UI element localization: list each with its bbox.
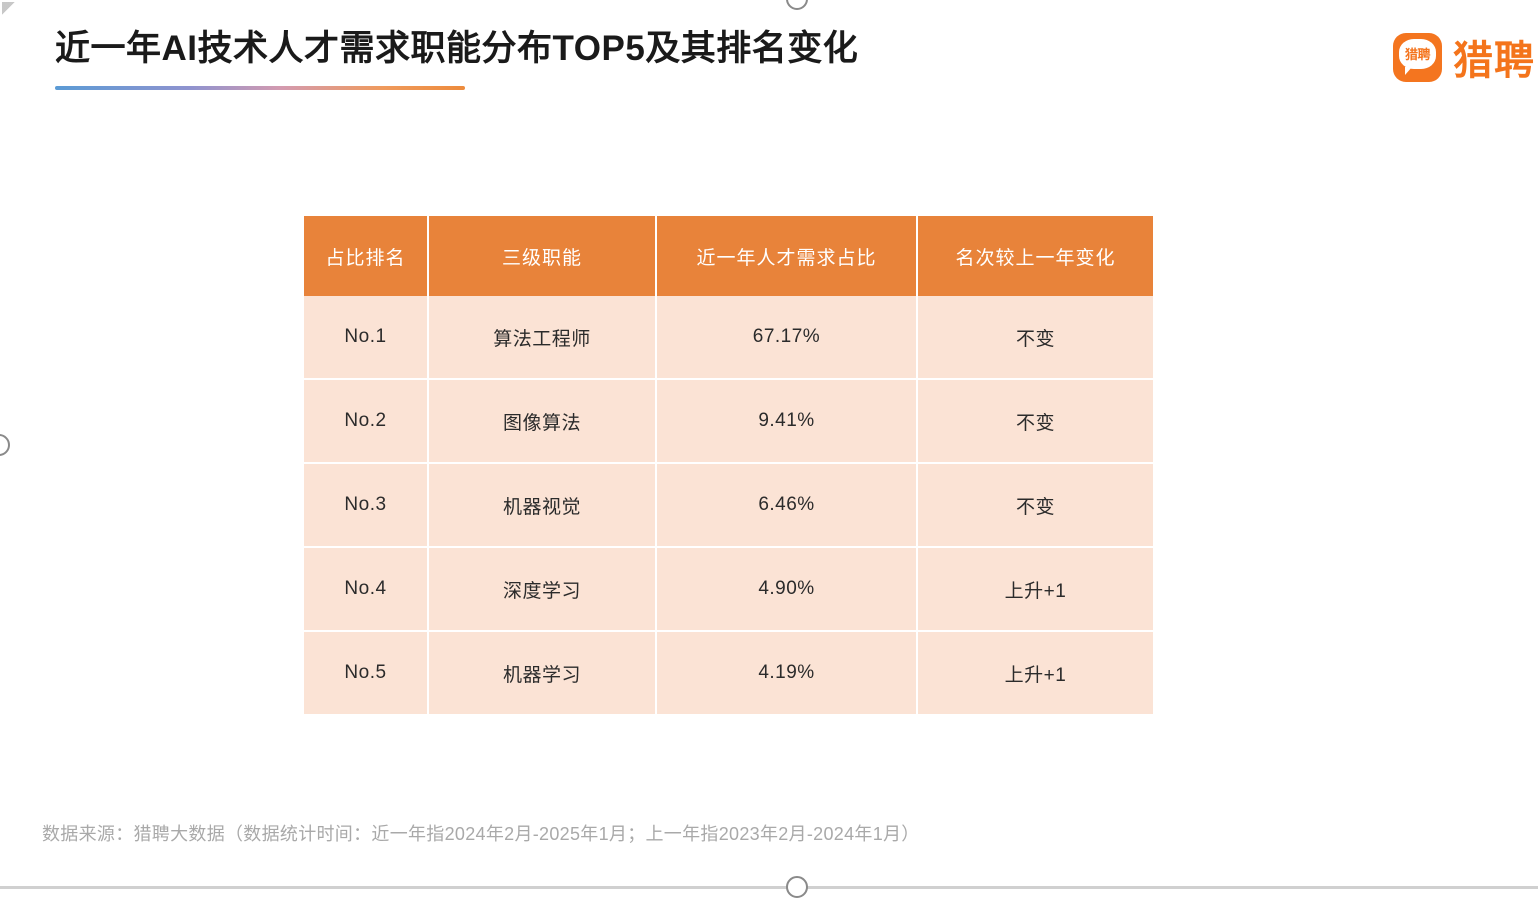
speech-bubble-icon: 猎聘 bbox=[1399, 39, 1436, 69]
cell-function: 深度学习 bbox=[428, 547, 656, 631]
page-title: 近一年AI技术人才需求职能分布TOP5及其排名变化 bbox=[55, 28, 1355, 70]
title-underline-gradient bbox=[55, 86, 465, 90]
cell-demand-share: 4.90% bbox=[656, 547, 917, 631]
column-header-rank: 占比排名 bbox=[304, 216, 428, 296]
cell-function: 图像算法 bbox=[428, 379, 656, 463]
cell-rank: No.2 bbox=[304, 379, 428, 463]
brand-logo: 猎聘 猎聘 bbox=[1393, 28, 1535, 86]
cell-demand-share: 6.46% bbox=[656, 463, 917, 547]
table-row: No.3 机器视觉 6.46% 不变 bbox=[304, 463, 1153, 547]
table-row: No.4 深度学习 4.90% 上升+1 bbox=[304, 547, 1153, 631]
cell-function: 算法工程师 bbox=[428, 296, 656, 379]
table-row: No.5 机器学习 4.19% 上升+1 bbox=[304, 631, 1153, 714]
logo-mark-text: 猎聘 bbox=[1399, 39, 1436, 69]
liepin-logo-icon: 猎聘 bbox=[1393, 33, 1442, 82]
selection-corner-marker bbox=[2, 2, 16, 16]
cell-demand-share: 4.19% bbox=[656, 631, 917, 714]
cell-rank: No.4 bbox=[304, 547, 428, 631]
cell-demand-share: 9.41% bbox=[656, 379, 917, 463]
table-header-row: 占比排名 三级职能 近一年人才需求占比 名次较上一年变化 bbox=[304, 216, 1153, 296]
title-block: 近一年AI技术人才需求职能分布TOP5及其排名变化 bbox=[55, 28, 1355, 90]
table-header: 占比排名 三级职能 近一年人才需求占比 名次较上一年变化 bbox=[304, 216, 1153, 296]
cell-rank: No.3 bbox=[304, 463, 428, 547]
selection-handle-left[interactable] bbox=[0, 434, 10, 456]
table-row: No.1 算法工程师 67.17% 不变 bbox=[304, 296, 1153, 379]
cell-rank-change: 上升+1 bbox=[917, 547, 1153, 631]
cell-rank: No.1 bbox=[304, 296, 428, 379]
column-header-function: 三级职能 bbox=[428, 216, 656, 296]
slide-canvas: 近一年AI技术人才需求职能分布TOP5及其排名变化 猎聘 猎聘 占比排名 三级职… bbox=[0, 0, 1538, 900]
cell-demand-share: 67.17% bbox=[656, 296, 917, 379]
table-body: No.1 算法工程师 67.17% 不变 No.2 图像算法 9.41% 不变 … bbox=[304, 296, 1153, 714]
column-header-rank-change: 名次较上一年变化 bbox=[917, 216, 1153, 296]
selection-bottom-edge[interactable] bbox=[0, 886, 1538, 889]
cell-function: 机器学习 bbox=[428, 631, 656, 714]
cell-rank-change: 不变 bbox=[917, 379, 1153, 463]
table-row: No.2 图像算法 9.41% 不变 bbox=[304, 379, 1153, 463]
column-header-demand-share: 近一年人才需求占比 bbox=[656, 216, 917, 296]
logo-wordmark: 猎聘 bbox=[1453, 28, 1535, 86]
selection-handle-top[interactable] bbox=[786, 0, 808, 10]
cell-rank-change: 不变 bbox=[917, 463, 1153, 547]
rank-distribution-table: 占比排名 三级职能 近一年人才需求占比 名次较上一年变化 No.1 算法工程师 … bbox=[304, 216, 1153, 714]
cell-rank-change: 上升+1 bbox=[917, 631, 1153, 714]
cell-function: 机器视觉 bbox=[428, 463, 656, 547]
cell-rank: No.5 bbox=[304, 631, 428, 714]
cell-rank-change: 不变 bbox=[917, 296, 1153, 379]
selection-handle-bottom[interactable] bbox=[786, 876, 808, 898]
data-source-footnote: 数据来源：猎聘大数据（数据统计时间：近一年指2024年2月-2025年1月；上一… bbox=[42, 820, 920, 846]
